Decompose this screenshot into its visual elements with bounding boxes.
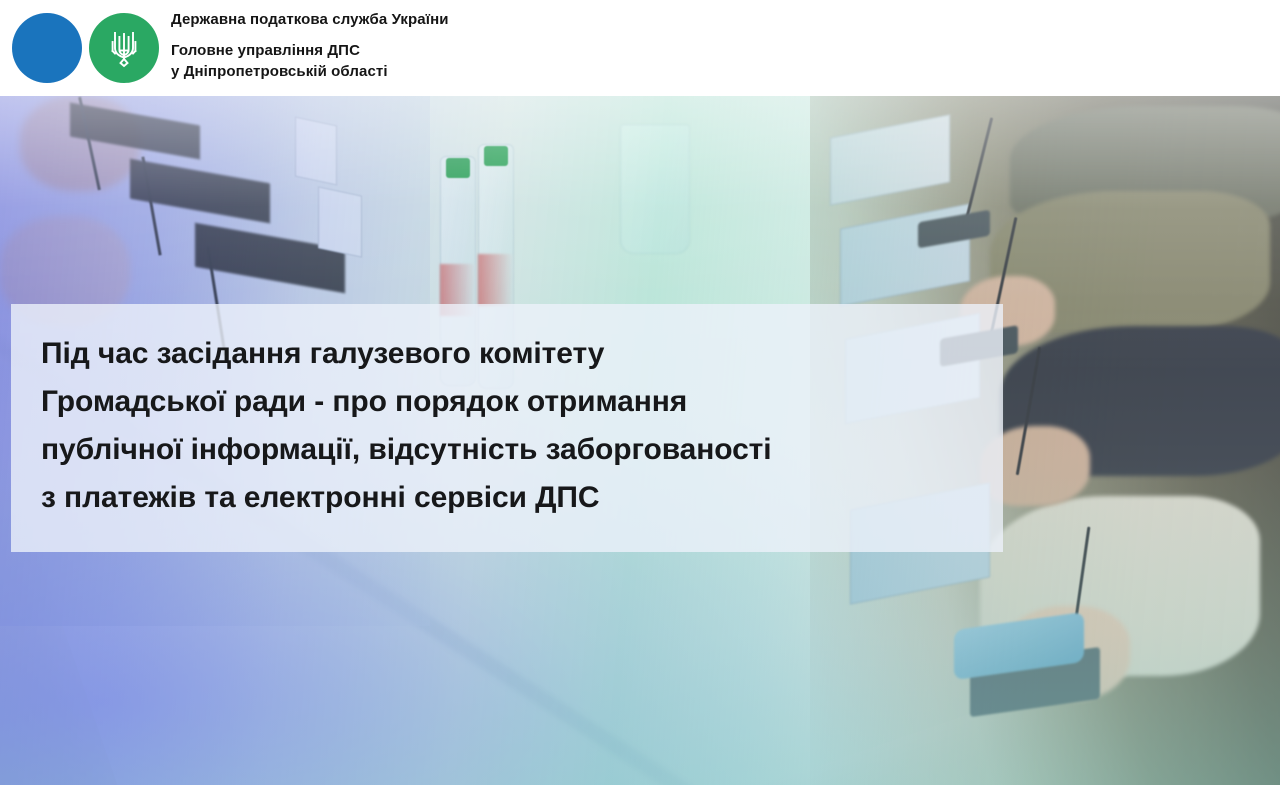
hero-banner: Під час засідання галузевого комітету Гр… [0, 96, 1280, 785]
brand-logo[interactable] [12, 13, 162, 83]
page-title: Під час засідання галузевого комітету Гр… [41, 330, 973, 522]
ukraine-trident-icon [89, 13, 159, 83]
page-root: Державна податкова служба України Головн… [0, 0, 1280, 785]
brand-text: Державна податкова служба України Головн… [171, 11, 731, 82]
department-line-1: Головне управління ДПС [171, 40, 731, 61]
headline-line-4: з платежів та електронні сервіси ДПС [41, 474, 973, 522]
department-name: Головне управління ДПС у Дніпропетровськ… [171, 40, 731, 82]
department-line-2: у Дніпропетровській області [171, 61, 731, 82]
organization-name: Державна податкова служба України [171, 11, 731, 29]
blue-circle-icon [12, 13, 82, 83]
headline-line-1: Під час засідання галузевого комітету [41, 330, 973, 378]
headline-line-2: Громадської ради - про порядок отримання [41, 378, 973, 426]
headline-line-3: публічної інформації, відсутність заборг… [41, 426, 973, 474]
site-header: Державна податкова служба України Головн… [0, 0, 1280, 96]
headline-panel: Під час засідання галузевого комітету Гр… [11, 304, 1003, 552]
